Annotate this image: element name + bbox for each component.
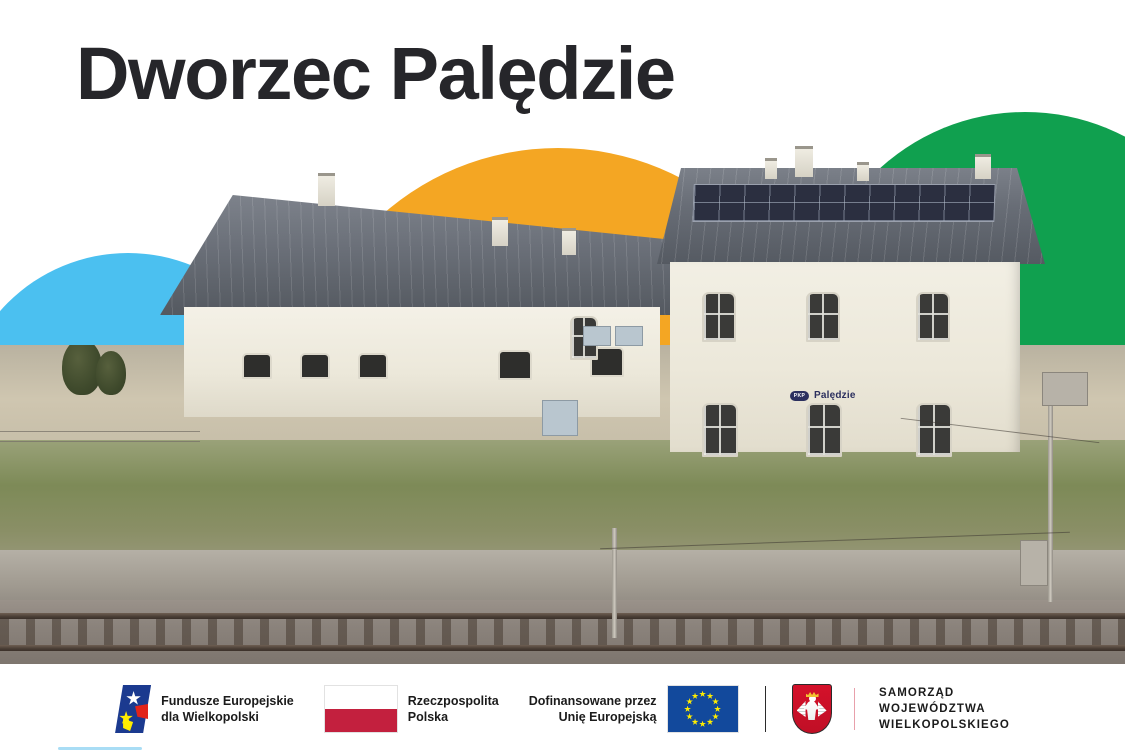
chimney-wing-1 [318, 173, 335, 206]
main-window-lower-1 [702, 403, 738, 457]
platform-sign [1042, 372, 1088, 406]
funding-logo-bar: Fundusze Europejskie dla Wielkopolski Rz… [0, 664, 1125, 754]
logo-line-2: Unię Europejską [529, 709, 657, 725]
catenary-pole-mid [612, 528, 617, 638]
progress-line [58, 747, 142, 750]
eu-flag-icon [667, 685, 739, 733]
rail-near [0, 613, 1125, 619]
main-window-upper-2 [806, 292, 840, 342]
logo-line-1: Dofinansowane przez [529, 693, 657, 709]
logo-line-2: WOJEWÓDZTWA [879, 701, 1010, 717]
wing-window-3 [358, 353, 388, 379]
polish-flag-icon [324, 685, 398, 733]
utility-cabinet [542, 400, 578, 436]
main-window-lower-3 [916, 403, 952, 457]
station-name-text: Palędzie [814, 391, 856, 401]
station-name-plate: PKP Palędzie [790, 391, 856, 401]
wing-window-1 [242, 353, 272, 379]
logo-samorzad-wojewodztwa-wielkopolskiego: SAMORZĄD WOJEWÓDZTWA WIELKOPOLSKIEGO [792, 684, 1010, 734]
chimney-main-1 [795, 146, 813, 177]
coat-of-arms-rule [854, 688, 856, 730]
samorzad-label: SAMORZĄD WOJEWÓDZTWA WIELKOPOLSKIEGO [879, 685, 1010, 734]
eu-star-icon [692, 693, 699, 700]
logo-line-1: SAMORZĄD [879, 685, 1010, 701]
logo-line-1: Rzeczpospolita [408, 693, 499, 709]
fundusze-europejskie-label: Fundusze Europejskie dla Wielkopolski [161, 693, 294, 725]
eu-star-icon [714, 706, 721, 713]
ac-unit-1 [583, 326, 611, 346]
signal-cabinet [1020, 540, 1048, 586]
eu-star-icon [712, 713, 719, 720]
track-sleepers [0, 617, 1125, 647]
logo-fundusze-europejskie: Fundusze Europejskie dla Wielkopolski [115, 685, 294, 733]
main-window-lower-2 [806, 403, 842, 457]
eu-star-icon [686, 713, 693, 720]
eu-star-icon [707, 693, 714, 700]
page-title: Dworzec Palędzie [76, 36, 675, 111]
main-window-upper-1 [702, 292, 736, 342]
logo-line-1: Fundusze Europejskie [161, 693, 294, 709]
solar-panel-array [692, 184, 995, 222]
fundusze-europejskie-logo-icon [115, 685, 151, 733]
rzeczpospolita-polska-label: Rzeczpospolita Polska [408, 693, 499, 725]
eu-star-icon [707, 718, 714, 725]
poster-page: PKP Palędzie Dworzec Palędzie Fundusze E… [0, 0, 1125, 754]
unia-europejska-label: Dofinansowane przez Unię Europejską [529, 693, 657, 725]
chimney-main-3 [857, 162, 869, 181]
station-main-building [645, 168, 1045, 568]
logo-rzeczpospolita-polska: Rzeczpospolita Polska [324, 685, 499, 733]
logo-unia-europejska: Dofinansowane przez Unię Europejską [529, 685, 739, 733]
footer-divider [765, 686, 766, 732]
eu-star-icon [684, 706, 691, 713]
eu-star-icon [699, 721, 706, 728]
chimney-main-2 [765, 158, 777, 179]
station-wing-building [160, 195, 680, 525]
wing-window-2 [300, 353, 330, 379]
wielkopolska-coat-of-arms-icon [792, 684, 832, 734]
main-window-upper-3 [916, 292, 950, 342]
pkp-logo-text: PKP [794, 394, 805, 399]
chimney-wing-3 [562, 228, 576, 255]
tree-left-2 [96, 351, 126, 395]
chimney-main-4 [975, 154, 991, 179]
rail-far [0, 645, 1125, 651]
hero-banner: PKP Palędzie Dworzec Palędzie [0, 0, 1125, 664]
logo-line-2: dla Wielkopolski [161, 709, 294, 725]
logo-line-3: WIELKOPOLSKIEGO [879, 717, 1010, 733]
pkp-logo-icon: PKP [790, 391, 809, 401]
eu-star-icon [699, 691, 706, 698]
catenary-pole-right [1048, 372, 1053, 602]
eu-star-icon [686, 698, 693, 705]
chimney-wing-2 [492, 217, 508, 246]
eu-star-icon [692, 718, 699, 725]
ac-unit-2 [615, 326, 643, 346]
wing-window-4 [498, 350, 532, 380]
eu-star-icon [712, 698, 719, 705]
logo-line-2: Polska [408, 709, 499, 725]
wing-roof-seams [160, 195, 680, 315]
